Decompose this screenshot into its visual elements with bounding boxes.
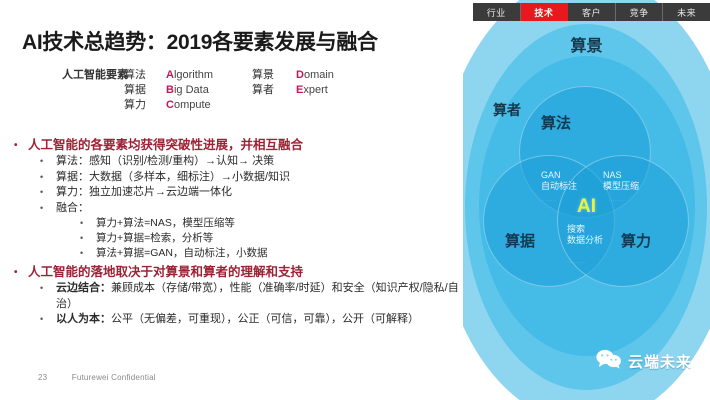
section-tabbar: 行业 技术 客户 竞争 未来 [473, 3, 710, 21]
right-diagram-pane: 行业 技术 客户 竞争 未来 算景 算者 算法 算据 算力 GAN 自动标注 N… [463, 0, 710, 400]
bullet-dot: • [14, 264, 28, 281]
slide-footer: 23 Futurewei Confidential [38, 373, 156, 382]
legend-cn2-0: 算景 [252, 68, 296, 83]
page-number: 23 [38, 373, 47, 382]
bullet-dot: • [80, 216, 96, 231]
ai-elements-legend: 人工智能要素 算法 Algorithm 算景 Domain 算据 Big Dat… [62, 68, 334, 113]
bullet-dot: • [80, 246, 96, 261]
venn-label-compute: 算力 [621, 230, 651, 251]
wechat-account-name: 云端未来 [628, 351, 692, 372]
section1-heading: • 人工智能的各要素均获得突破性进展，并相互融合 [14, 137, 459, 154]
bullet-content: • 人工智能的各要素均获得突破性进展，并相互融合 • 算法：感知（识别/检测/重… [14, 134, 459, 328]
legend-cn-2: 算力 [124, 98, 166, 113]
legend-row: 人工智能要素 算法 Algorithm 算景 Domain [62, 68, 334, 83]
venn-diagram: 算景 算者 算法 算据 算力 GAN 自动标注 NAS 模型压缩 搜索 数据分析… [463, 18, 710, 400]
venn-label-algorithm: 算法 [541, 112, 571, 133]
page-title: AI技术总趋势：2019各要素发展与融合 [22, 26, 378, 56]
list-item: • 云边结合：兼顾成本（存储/带宽），性能（准确率/时延）和安全（知识产权/隐私… [40, 281, 459, 312]
wechat-icon [596, 349, 622, 374]
venn-label-scene: 算景 [463, 32, 710, 56]
left-content-pane: AI技术总趋势：2019各要素发展与融合 人工智能要素 算法 Algorithm… [0, 0, 470, 400]
tab-industry[interactable]: 行业 [473, 3, 521, 21]
list-item: • 以人为本：公平（无偏差，可重现），公正（可信，可靠），公开（可解释） [40, 312, 459, 328]
list-item: • 算法：感知（识别/检测/重构）→认知→ 决策 [40, 154, 459, 170]
wechat-watermark: 云端未来 [596, 349, 692, 374]
legend-en-2: Compute [166, 98, 252, 113]
legend-en2-1: Expert [296, 83, 328, 98]
venn-faint-text-bottom: ········· [569, 260, 586, 265]
legend-en-0: Algorithm [166, 68, 252, 83]
bullet-dot: • [40, 201, 56, 217]
bullet-dot: • [40, 170, 56, 186]
bullet-dot: • [40, 185, 56, 201]
legend-header: 人工智能要素 [62, 68, 124, 83]
venn-label-expert: 算者 [493, 100, 521, 120]
legend-en2-0: Domain [296, 68, 334, 83]
confidential-note: Futurewei Confidential [72, 373, 156, 382]
legend-cn2-1: 算者 [252, 83, 296, 98]
legend-cn-0: 算法 [124, 68, 166, 83]
venn-intersection-gan: GAN 自动标注 [541, 170, 577, 192]
legend-cn-1: 算据 [124, 83, 166, 98]
tab-customer[interactable]: 客户 [568, 3, 616, 21]
section2-heading: • 人工智能的落地取决于对算景和算者的理解和支持 [14, 264, 459, 281]
bullet-dot: • [14, 137, 28, 154]
legend-row: 算据 Big Data 算者 Expert [62, 83, 334, 98]
list-item: • 算力+算法=NAS，模型压缩等 [80, 216, 459, 231]
bullet-dot: • [80, 231, 96, 246]
bullet-dot: • [40, 154, 56, 170]
slide-canvas: AI技术总趋势：2019各要素发展与融合 人工智能要素 算法 Algorithm… [0, 0, 710, 400]
tab-future[interactable]: 未来 [663, 3, 710, 21]
venn-center-label-ai: AI [463, 196, 710, 218]
legend-en-1: Big Data [166, 83, 252, 98]
venn-label-data: 算据 [505, 230, 535, 251]
list-item: • 算力+算据=检索，分析等 [80, 231, 459, 246]
list-item: • 算力：独立加速芯片→云边端一体化 [40, 185, 459, 201]
list-item: • 算据：大数据（多样本，细标注）→小数据/知识 [40, 170, 459, 186]
tab-technology[interactable]: 技术 [521, 3, 569, 21]
list-item: • 算法+算据=GAN，自动标注，小数据 [80, 246, 459, 261]
venn-intersection-nas: NAS 模型压缩 [603, 170, 639, 192]
tab-competition[interactable]: 竞争 [616, 3, 664, 21]
legend-row: 算力 Compute [62, 98, 334, 113]
list-item: • 融合： [40, 201, 459, 217]
venn-intersection-search: 搜索 数据分析 [567, 224, 603, 246]
bullet-dot: • [40, 281, 56, 312]
bullet-dot: • [40, 312, 56, 328]
